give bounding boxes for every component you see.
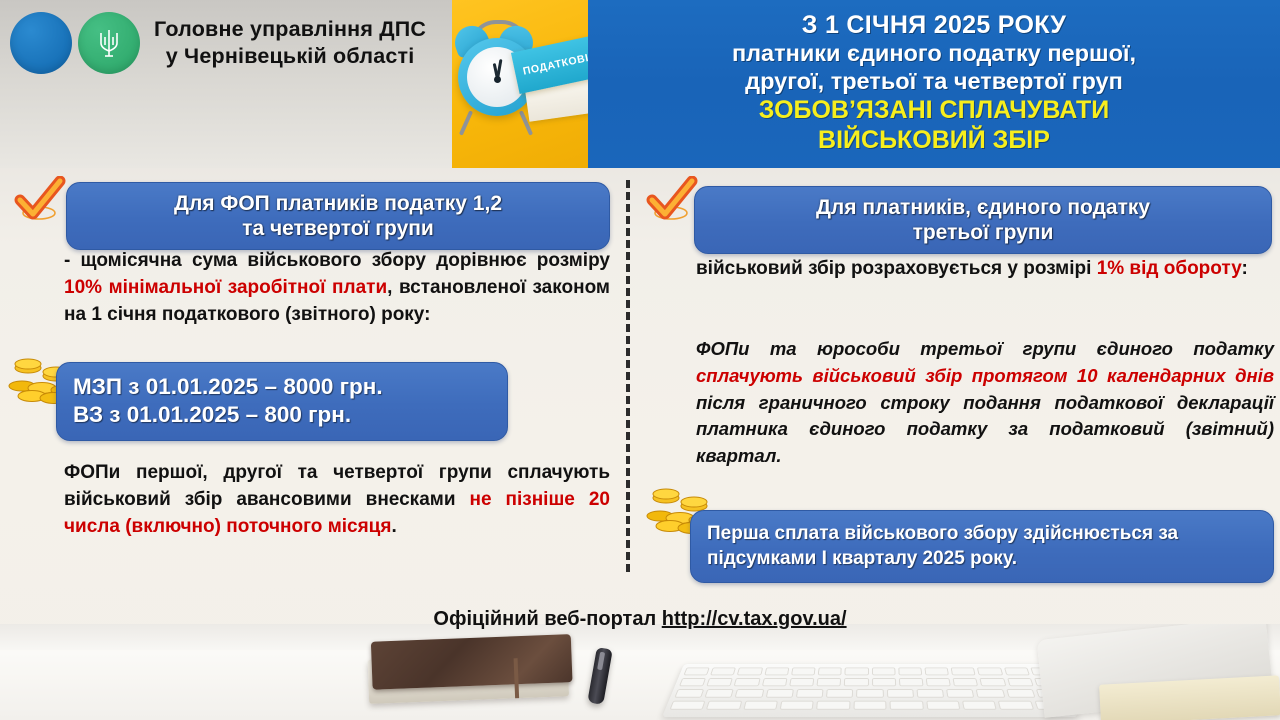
header-photo-alarm-clock: ПОДАТКОВІ ЗМІНИ — [452, 0, 588, 168]
keyboard-row — [679, 678, 1061, 686]
notebook-cover — [371, 634, 573, 690]
banner-line-3: другої, третьої та четвертої груп — [745, 67, 1123, 95]
right-p1-part-b: : — [1242, 258, 1248, 279]
org-line-1: Головне управління ДПС — [154, 16, 426, 43]
logo-row: Головне управління ДПС у Чернівецькій об… — [10, 12, 426, 74]
right-callout-line-1: Перша сплата військового збору здійснюєт… — [707, 521, 1257, 546]
keyboard-row — [683, 667, 1056, 675]
left-title-line-1: Для ФОП платників податку 1,2 — [81, 191, 595, 216]
left-callout-line-1: МЗП з 01.01.2025 – 8000 грн. — [73, 373, 491, 401]
header-banner: З 1 СІЧНЯ 2025 РОКУ платники єдиного под… — [588, 0, 1280, 168]
left-p2-part-b: . — [391, 516, 396, 537]
tax-changes-label: ПОДАТКОВІ ЗМІНИ — [514, 44, 588, 80]
right-p2-part-a: ФОПи та юрособи третьої групи єдиного по… — [696, 338, 1274, 359]
trident-glyph — [96, 26, 122, 60]
notebook-icon — [367, 634, 573, 706]
left-paragraph-1: - щомісячна сума військового збору дорів… — [64, 248, 610, 329]
right-section-title: Для платників, єдиного податку третьої г… — [694, 186, 1272, 254]
left-callout-line-2: ВЗ з 01.01.2025 – 800 грн. — [73, 401, 491, 429]
left-paragraph-2: ФОПи першої, другої та четвертої групи с… — [64, 460, 610, 541]
banner-line-5: ВІЙСЬКОВИЙ ЗБІР — [818, 127, 1050, 155]
left-title-line-2: та четвертої групи — [81, 216, 595, 241]
keyboard-row — [669, 701, 1070, 710]
right-title-line-1: Для платників, єдиного податку — [709, 195, 1257, 220]
footer: Офіційний веб-портал http://cv.tax.gov.u… — [0, 608, 1280, 631]
pen-clip — [597, 652, 605, 671]
banner-line-4: ЗОБОВ’ЯЗАНІ СПЛАЧУВАТИ — [759, 97, 1110, 125]
blue-circle-logo-icon — [10, 12, 72, 74]
header-branding: Головне управління ДПС у Чернівецькій об… — [0, 0, 452, 168]
banner-line-1: З 1 СІЧНЯ 2025 РОКУ — [802, 12, 1066, 39]
right-p2-highlight: сплачують військовий збір протягом 10 ка… — [696, 365, 1274, 386]
org-line-2: у Чернівецькій області — [154, 43, 426, 70]
right-callout-line-2: підсумками I кварталу 2025 року. — [707, 546, 1257, 571]
desk-photo-background — [0, 624, 1280, 720]
right-p1-highlight: 1% від обороту — [1097, 258, 1242, 279]
left-p1-highlight: 10% мінімальної заробітної плати — [64, 277, 387, 298]
right-paragraph-1: військовий збір розраховується у розмірі… — [696, 256, 1274, 283]
clock-leg-left — [459, 110, 473, 135]
left-section-title: Для ФОП платників податку 1,2 та четверт… — [66, 182, 610, 250]
left-p1-part-a: - щомісячна сума військового збору дорів… — [64, 250, 610, 271]
right-paragraph-2: ФОПи та юрособи третьої групи єдиного по… — [696, 336, 1274, 470]
column-divider — [626, 180, 630, 572]
right-p2-part-b: після граничного строку подання податков… — [696, 392, 1274, 467]
keyboard-keys — [668, 667, 1072, 712]
right-callout-box: Перша сплата військового збору здійснюєт… — [690, 510, 1274, 583]
trident-emblem-icon — [78, 12, 140, 74]
left-callout-box: МЗП з 01.01.2025 – 8000 грн. ВЗ з 01.01.… — [56, 362, 508, 441]
right-p1-part-a: військовий збір розраховується у розмірі — [696, 258, 1097, 279]
organization-name: Головне управління ДПС у Чернівецькій об… — [154, 16, 426, 69]
pen-icon — [587, 647, 612, 705]
keyboard-row — [674, 689, 1065, 698]
right-title-line-2: третьої групи — [709, 220, 1257, 245]
clock-pivot — [494, 76, 501, 83]
orange-check-icon-left — [14, 176, 66, 224]
official-portal-link[interactable]: http://cv.tax.gov.ua/ — [662, 608, 847, 630]
banner-line-2: платники єдиного податку першої, — [732, 39, 1136, 67]
keyboard-icon — [662, 664, 1078, 717]
orange-check-icon-right — [646, 176, 698, 224]
header: Головне управління ДПС у Чернівецькій об… — [0, 0, 1280, 168]
footer-label: Офіційний веб-портал — [433, 608, 661, 630]
infographic-poster: Головне управління ДПС у Чернівецькій об… — [0, 0, 1280, 720]
